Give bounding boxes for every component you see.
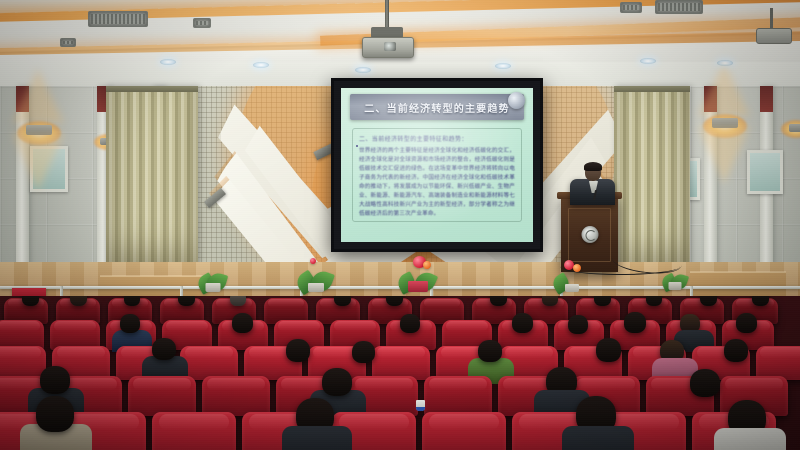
slide-body: 二、当前经济转型的主要特征和趋势： 世界经济的两个主要特征是经济全球化和经济低碳… [352,128,522,222]
audience-member-head [646,296,662,306]
wall-window [747,150,783,194]
auditorium-scene: 二、当前经济转型的主要趋势 二、当前经济转型的主要特征和趋势： 世界经济的两个主… [0,0,800,450]
slide-paragraph: 世界经济的两个主要特征是经济全球化和经济低碳化的交汇，经济全球化是对全球资源和市… [359,147,515,219]
slide-subtitle: 二、当前经济转型的主要特征和趋势： [359,134,515,143]
ceiling-air-conditioning-vent [620,2,642,13]
speaker-hair [584,162,602,171]
projection-screen: 二、当前经济转型的主要趋势 二、当前经济转型的主要特征和趋势： 世界经济的两个主… [331,78,543,252]
audience-member-head [22,296,39,306]
ceiling-downlight [253,62,269,68]
ceiling-air-conditioning-vent [88,11,148,27]
audience-member-head [178,296,195,306]
stage-curtain-left [106,86,198,272]
stage-curtain-right [614,86,690,272]
audience-member-head [322,368,352,396]
audience-member-head [40,366,70,394]
audience-member-head [232,313,253,333]
projector-lens-icon [384,42,396,51]
audience-member-head [596,338,621,362]
audience-seating [0,296,800,450]
audience-member-head [624,312,646,333]
seat [756,346,800,380]
audience-member-head [120,314,140,333]
audience-member-head [542,296,558,306]
ceiling-downlight [355,67,371,73]
audience-member-head [124,296,140,306]
stage-plant-flowering [396,256,440,292]
ceiling-mounted-projector [756,28,792,44]
stage-plant [660,262,690,290]
ceiling-air-conditioning-vent [60,38,76,47]
seat [372,346,430,380]
projector-mount-pole [770,8,773,30]
audience-member-head [724,339,748,362]
ceiling-downlight [640,58,656,64]
wall-sconce-light [789,124,800,132]
slide-title: 二、当前经济转型的主要趋势 [364,100,510,115]
institutional-seal-icon [581,226,598,243]
audience-member-head [478,340,502,362]
ceiling-downlight [160,59,176,65]
audience-member-head [152,338,176,360]
ceiling-downlight [495,63,511,69]
ceiling-air-conditioning-vent [193,18,211,28]
audience-member-head [36,396,74,432]
projected-slide: 二、当前经济转型的主要趋势 二、当前经济转型的主要特征和趋势： 世界经济的两个主… [341,88,533,242]
audience-member-head [286,339,310,362]
audience-member-shoulders [714,428,786,450]
audience-member-head [230,296,246,306]
stage-plant-flowering [552,258,592,292]
audience-member-shoulders [282,426,352,450]
audience-member-head [594,296,611,306]
seat [424,376,492,416]
audience-member-head [568,315,588,334]
seat [152,412,236,450]
audience-member-head [736,313,757,333]
audience-member-head [690,369,720,397]
audience-member-head [490,296,507,306]
stage-plant [296,260,336,292]
seat [180,346,238,380]
audience-member-head [386,296,403,306]
ceiling-air-conditioning-vent [655,0,703,14]
audience-member-head [352,341,375,363]
drink-cup [416,400,425,411]
projector-mount-pole [385,0,389,30]
audience-member-shoulders [562,426,634,450]
slide-bullet-icon [356,145,358,147]
stage-plant [196,262,230,292]
seat [128,376,196,416]
seat [0,346,46,380]
audience-member-head [400,314,420,333]
audience-member-head [700,296,717,306]
audience-member-head [334,296,351,306]
slide-title-bar: 二、当前经济转型的主要趋势 [350,94,524,120]
wall-sconce-light [712,118,738,128]
audience-member-head [70,296,87,306]
wall-sconce-light [26,125,52,135]
audience-member-head [752,296,769,306]
slide-title-ornament-icon [508,92,525,109]
audience-member-head [512,313,533,333]
seat [422,412,506,450]
seat [202,376,270,416]
